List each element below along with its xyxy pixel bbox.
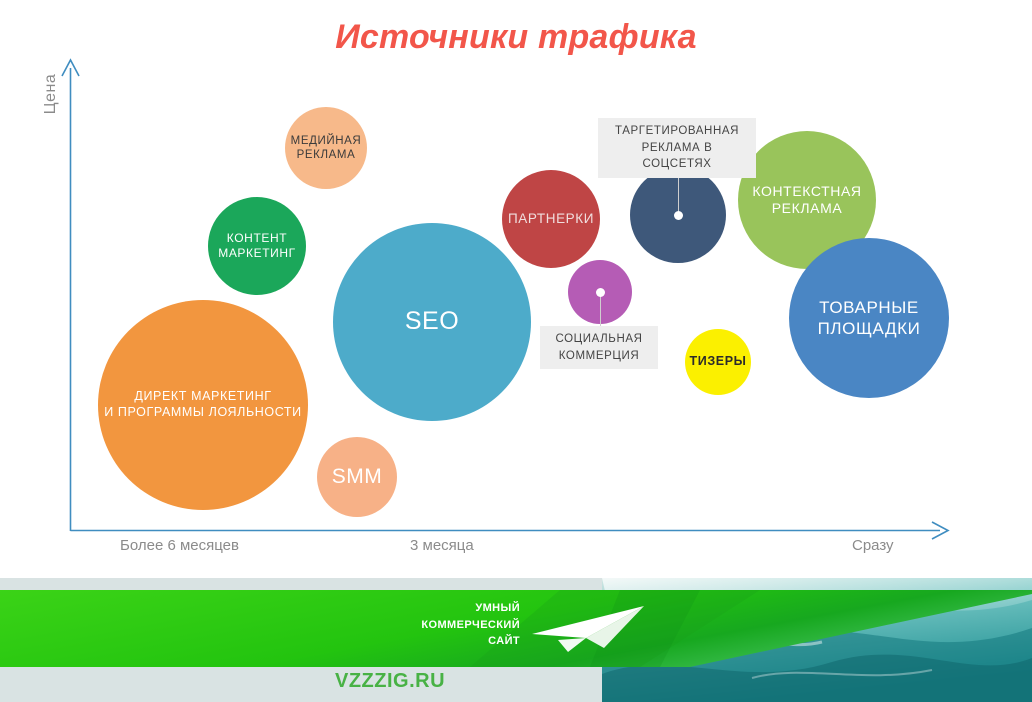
slide-canvas: Источники трафика Цена Более 6 месяцев 3…	[0, 0, 1032, 702]
callout-anchor-dot	[674, 211, 683, 220]
chart-bubble-label: ДИРЕКТ МАРКЕТИНГ И ПРОГРАММЫ ЛОЯЛЬНОСТИ	[98, 389, 307, 420]
chart-bubble[interactable]: ПАРТНЕРКИ	[502, 170, 600, 268]
chart-bubble[interactable]: SMM	[317, 437, 397, 517]
chart-bubble-label: КОНТЕНТ МАРКЕТИНГ	[212, 231, 302, 261]
footer-banner: УМНЫЙ КОММЕРЧЕСКИЙ САЙТ VZZZIG.RU	[0, 578, 1032, 702]
x-axis-tick-1: 3 месяца	[410, 537, 474, 554]
callout-anchor-dot	[596, 288, 605, 297]
bubble-chart: Цена Более 6 месяцев 3 месяца Сразу ДИРЕ…	[0, 0, 1032, 575]
chart-bubble[interactable]: МЕДИЙНАЯ РЕКЛАМА	[285, 107, 367, 189]
chart-bubble[interactable]: ТИЗЕРЫ	[685, 329, 751, 395]
chart-bubble[interactable]: КОНТЕНТ МАРКЕТИНГ	[208, 197, 306, 295]
chart-bubble-label: ТИЗЕРЫ	[684, 354, 753, 370]
footer-tagline: УМНЫЙ КОММЕРЧЕСКИЙ САЙТ	[400, 600, 520, 650]
site-url-text: VZZZIG.RU	[335, 670, 445, 693]
chart-bubble-label: SEO	[399, 306, 465, 337]
x-axis-tick-0: Более 6 месяцев	[120, 537, 239, 554]
chart-bubble[interactable]: SEO	[333, 223, 531, 421]
chart-bubble[interactable]: ДИРЕКТ МАРКЕТИНГ И ПРОГРАММЫ ЛОЯЛЬНОСТИ	[98, 300, 308, 510]
chart-bubble-label: ПАРТНЕРКИ	[502, 211, 600, 228]
x-axis-tick-2: Сразу	[852, 537, 894, 554]
chart-bubble-label: МЕДИЙНАЯ РЕКЛАМА	[285, 134, 368, 163]
chart-bubble-label: КОНТЕКСТНАЯ РЕКЛАМА	[746, 183, 867, 218]
chart-bubble-label: SMM	[326, 464, 389, 490]
chart-callout-label[interactable]: СОЦИАЛЬНАЯ КОММЕРЦИЯ	[540, 326, 658, 369]
callout-leader-line	[600, 292, 601, 326]
chart-bubble-label: ТОВАРНЫЕ ПЛОЩАДКИ	[812, 297, 927, 340]
chart-bubble[interactable]: ТОВАРНЫЕ ПЛОЩАДКИ	[789, 238, 949, 398]
y-axis-label: Цена	[42, 39, 60, 149]
paper-plane-icon	[528, 600, 648, 660]
chart-callout-label[interactable]: ТАРГЕТИРОВАННАЯ РЕКЛАМА В СОЦСЕТЯХ	[598, 118, 756, 178]
